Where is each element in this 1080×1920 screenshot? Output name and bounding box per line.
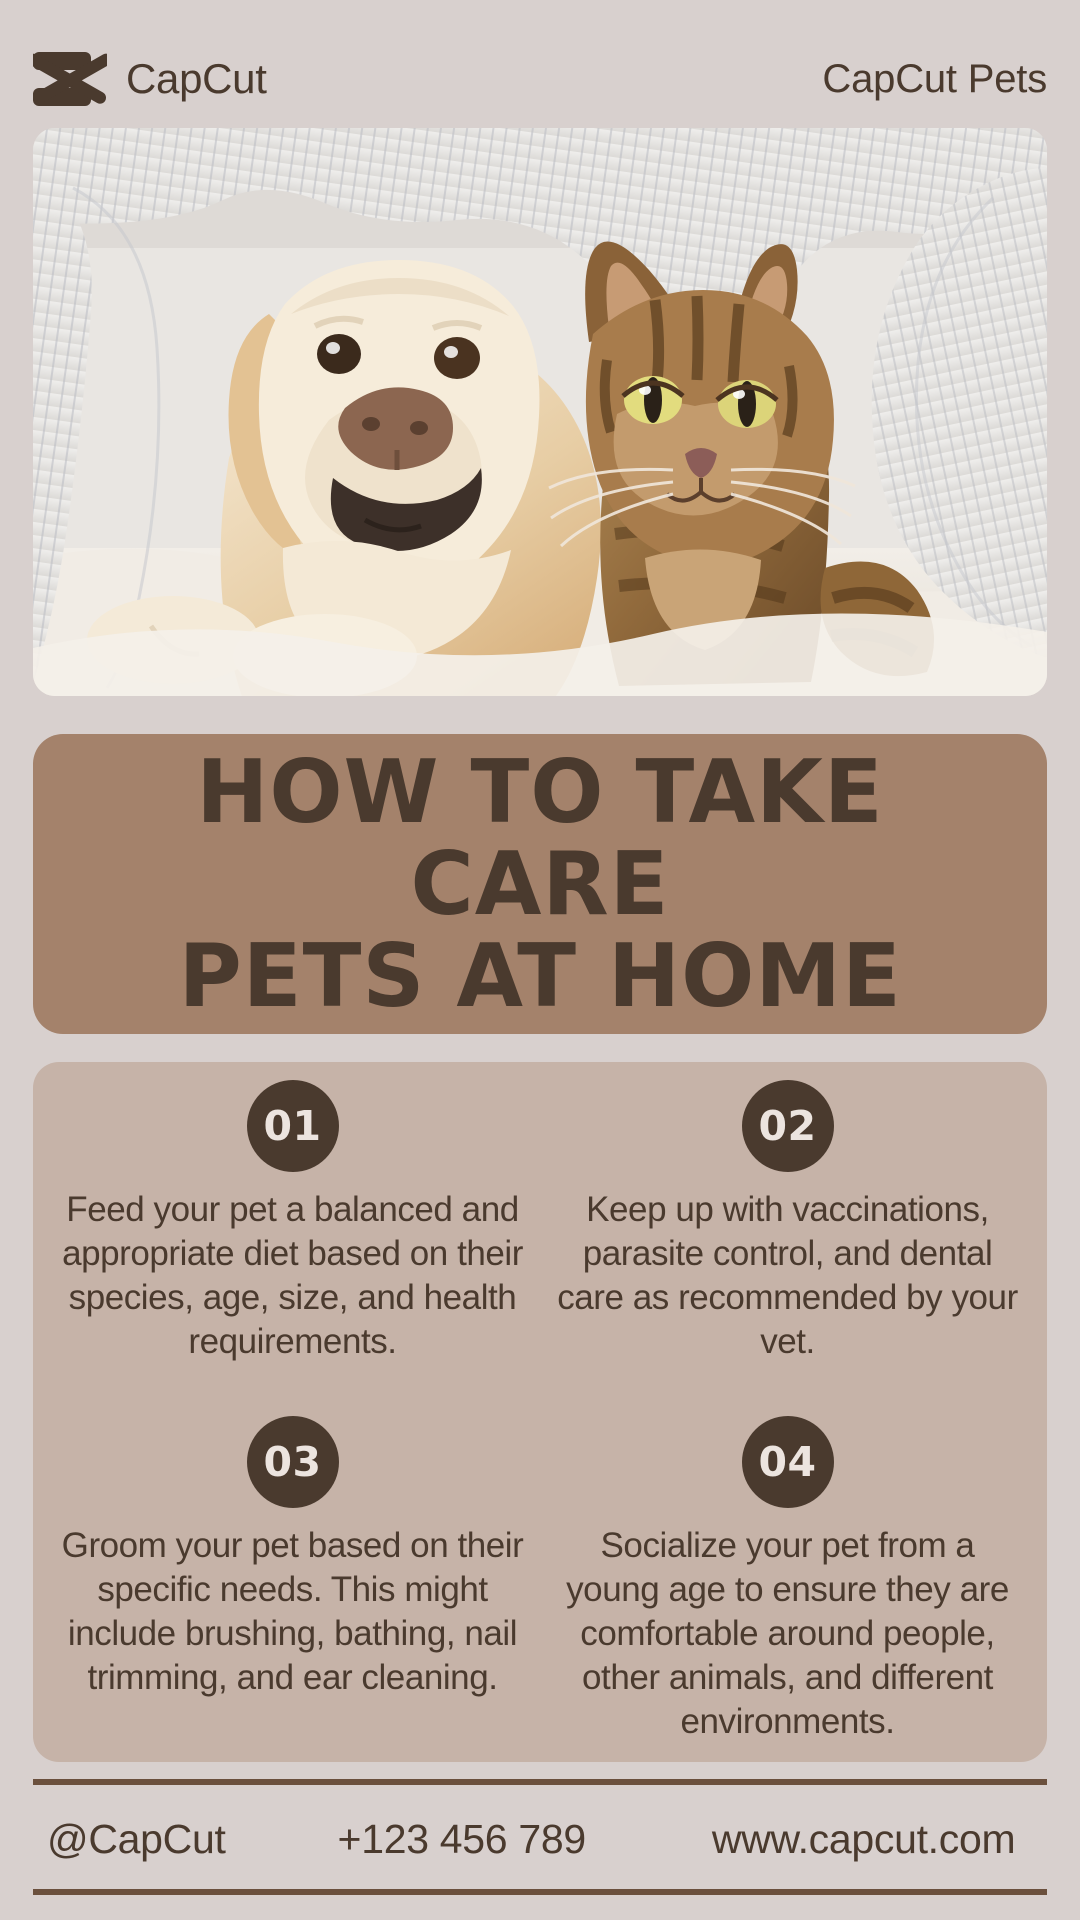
hero-photo bbox=[33, 128, 1047, 696]
tip-item-02: 02 Keep up with vaccinations, parasite c… bbox=[540, 1080, 1035, 1416]
title-line-1: HOW TO TAKE CARE bbox=[72, 746, 1009, 930]
tip-number-02: 02 bbox=[758, 1106, 816, 1147]
tip-text-02: Keep up with vaccinations, parasite cont… bbox=[554, 1188, 1021, 1364]
title-banner: HOW TO TAKE CARE PETS AT HOME bbox=[33, 734, 1047, 1034]
footer-divider-bottom bbox=[33, 1889, 1047, 1895]
tip-number-01: 01 bbox=[263, 1106, 321, 1147]
tip-item-01: 01 Feed your pet a balanced and appropri… bbox=[45, 1080, 540, 1416]
page-header: CapCut CapCut Pets bbox=[33, 46, 1047, 112]
tips-card: 01 Feed your pet a balanced and appropri… bbox=[33, 1062, 1047, 1762]
brand-name: CapCut bbox=[126, 58, 267, 100]
infographic-page: CapCut CapCut Pets bbox=[0, 0, 1080, 1920]
tip-badge-04: 04 bbox=[742, 1416, 834, 1508]
tip-number-04: 04 bbox=[758, 1442, 816, 1483]
capcut-logo-icon bbox=[33, 48, 107, 110]
tip-number-03: 03 bbox=[263, 1442, 321, 1483]
tip-text-01: Feed your pet a balanced and appropriate… bbox=[59, 1188, 526, 1364]
footer-website[interactable]: www.capcut.com bbox=[712, 1819, 1015, 1860]
tip-text-03: Groom your pet based on their specific n… bbox=[59, 1524, 526, 1700]
tip-badge-03: 03 bbox=[247, 1416, 339, 1508]
title-line-2: PETS AT HOME bbox=[178, 930, 901, 1022]
tip-item-03: 03 Groom your pet based on their specifi… bbox=[45, 1416, 540, 1752]
footer-social-handle[interactable]: @CapCut bbox=[47, 1819, 226, 1860]
brand-lockup: CapCut bbox=[33, 48, 267, 110]
page-footer: @CapCut +123 456 789 www.capcut.com bbox=[33, 1795, 1047, 1883]
tip-badge-02: 02 bbox=[742, 1080, 834, 1172]
tip-text-04: Socialize your pet from a young age to e… bbox=[554, 1524, 1021, 1744]
footer-divider-top bbox=[33, 1779, 1047, 1785]
tip-badge-01: 01 bbox=[247, 1080, 339, 1172]
header-right-label: CapCut Pets bbox=[822, 59, 1047, 99]
tip-item-04: 04 Socialize your pet from a young age t… bbox=[540, 1416, 1035, 1752]
footer-phone[interactable]: +123 456 789 bbox=[338, 1819, 586, 1860]
